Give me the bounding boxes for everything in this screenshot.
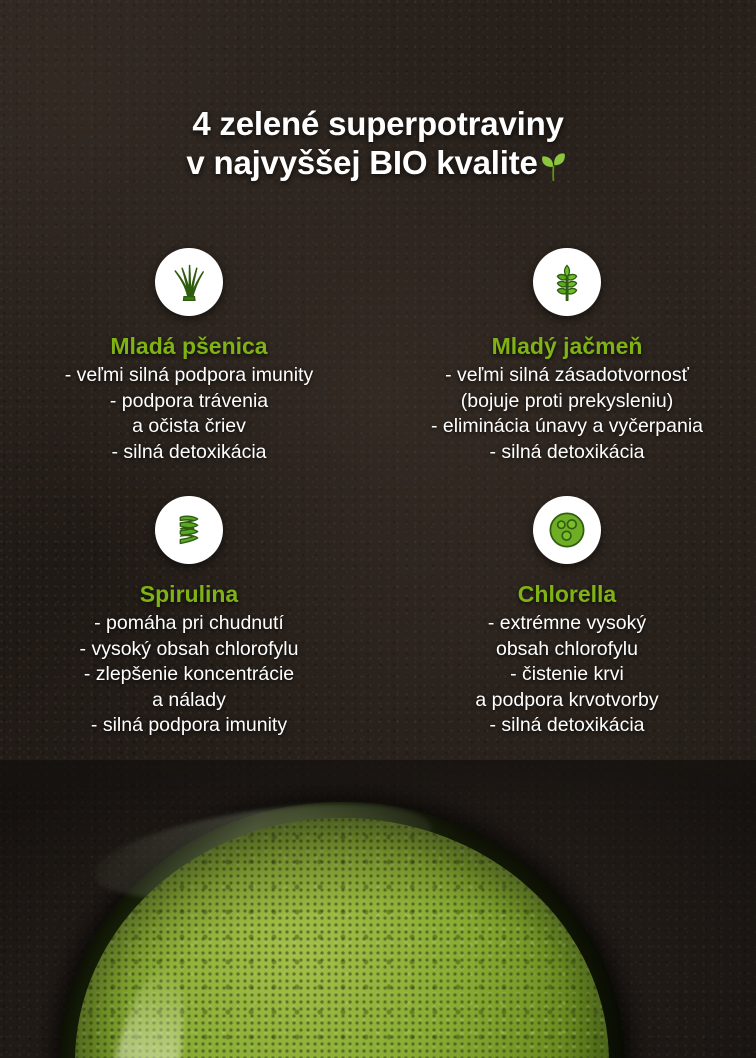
superfood-benefits: - veľmi silná zásadotvornosť (bojuje pro…: [431, 363, 703, 465]
wheatgrass-icon: [167, 260, 211, 304]
superfood-card-chlorella: Chlorella - extrémne vysoký obsah chloro…: [378, 496, 756, 739]
benefit-line: - podpora trávenia: [65, 389, 313, 415]
superfood-name: Spirulina: [140, 581, 238, 608]
juice-highlight: [90, 960, 199, 1058]
benefit-line: - pomáha pri chudnutí: [80, 611, 299, 637]
superfood-card-spirulina: Spirulina - pomáha pri chudnutí - vysoký…: [0, 496, 378, 739]
benefit-line: - veľmi silná zásadotvornosť: [431, 363, 703, 389]
benefit-line: - extrémne vysoký: [475, 611, 658, 637]
superfood-benefits: - extrémne vysoký obsah chlorofylu - čis…: [475, 611, 658, 739]
superfood-benefits: - veľmi silná podpora imunity - podpora …: [65, 363, 313, 465]
page-title: 4 zelené superpotraviny v najvyššej BIO …: [0, 104, 756, 182]
barley-stalk-icon: [546, 261, 588, 303]
benefit-line: a nálady: [80, 688, 299, 714]
infographic-poster: 4 zelené superpotraviny v najvyššej BIO …: [0, 0, 756, 1058]
superfood-card-barley: Mladý jačmeň - veľmi silná zásadotvornos…: [378, 248, 756, 465]
green-juice-photo: [0, 760, 756, 1058]
title-line-2: v najvyššej BIO kvalite: [186, 143, 537, 182]
title-line-2-row: v najvyššej BIO kvalite: [186, 143, 569, 182]
benefit-line: - silná detoxikácia: [475, 713, 658, 739]
chlorella-badge: [533, 496, 601, 564]
benefit-line: - silná podpora imunity: [80, 713, 299, 739]
sprout-icon: [536, 148, 570, 182]
benefit-line: a podpora krvotvorby: [475, 688, 658, 714]
superfood-grid: Mladá pšenica - veľmi silná podpora imun…: [0, 248, 756, 739]
benefit-line: - veľmi silná podpora imunity: [65, 363, 313, 389]
wheatgrass-badge: [155, 248, 223, 316]
superfood-card-wheatgrass: Mladá pšenica - veľmi silná podpora imun…: [0, 248, 378, 465]
spirulina-badge: [155, 496, 223, 564]
benefit-line: - vysoký obsah chlorofylu: [80, 637, 299, 663]
benefit-line: obsah chlorofylu: [475, 637, 658, 663]
spirulina-spiral-icon: [170, 511, 208, 549]
benefit-line: (bojuje proti prekysleniu): [431, 389, 703, 415]
chlorella-cell-icon: [546, 509, 588, 551]
title-line-1: 4 zelené superpotraviny: [0, 104, 756, 143]
benefit-line: - eliminácia únavy a vyčerpania: [431, 414, 703, 440]
superfood-name: Chlorella: [518, 581, 616, 608]
superfood-name: Mladá pšenica: [110, 333, 267, 360]
juice-glass: [59, 802, 625, 1058]
benefit-line: a očista čriev: [65, 414, 313, 440]
superfood-name: Mladý jačmeň: [492, 333, 643, 360]
barley-badge: [533, 248, 601, 316]
benefit-line: - silná detoxikácia: [65, 440, 313, 466]
superfood-benefits: - pomáha pri chudnutí - vysoký obsah chl…: [80, 611, 299, 739]
benefit-line: - silná detoxikácia: [431, 440, 703, 466]
benefit-line: - zlepšenie koncentrácie: [80, 662, 299, 688]
benefit-line: - čistenie krvi: [475, 662, 658, 688]
